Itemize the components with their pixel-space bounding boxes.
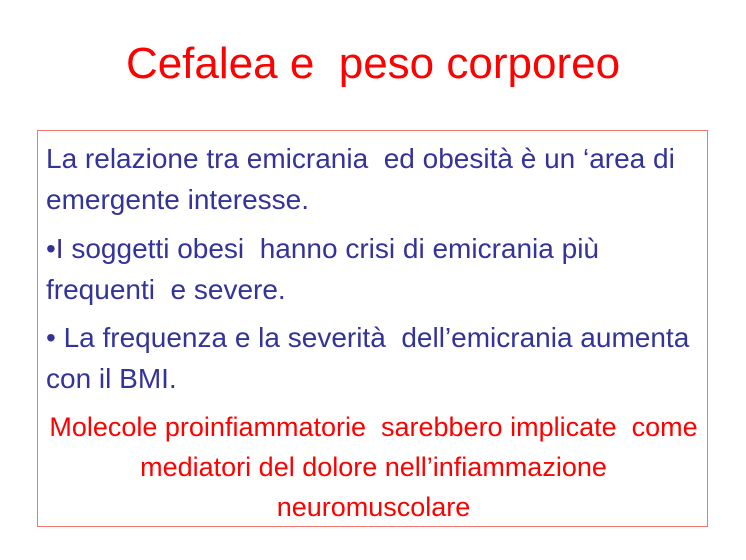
body-paragraph-bullet-1: •I soggetti obesi hanno crisi di emicran… <box>46 228 701 310</box>
content-frame: La relazione tra emicrania ed obesità è … <box>37 130 708 527</box>
body-paragraph-bullet-2: • La frequenza e la severità dell’emicra… <box>46 317 701 399</box>
body-paragraph-intro: La relazione tra emicrania ed obesità è … <box>46 138 701 220</box>
highlight-conclusion-text: Molecole proinfiammatorie sarebbero impl… <box>46 407 701 527</box>
presentation-slide: Cefalea e peso corporeo La relazione tra… <box>0 0 746 560</box>
page-title: Cefalea e peso corporeo <box>0 38 746 90</box>
